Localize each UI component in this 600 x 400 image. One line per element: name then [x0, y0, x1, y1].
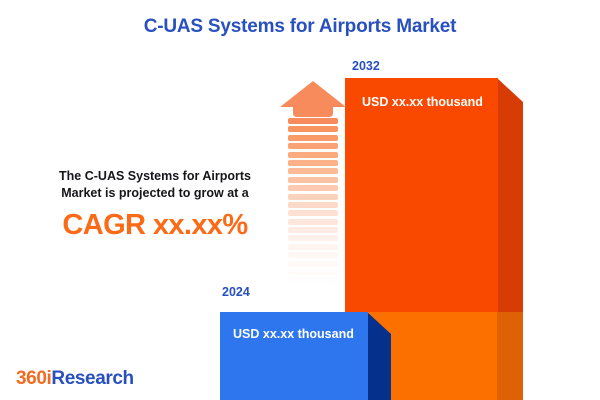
- bar-2024-front-face: [220, 312, 368, 400]
- arrow-stripes: [288, 118, 338, 304]
- bar-2032-side-face-lower: [497, 312, 523, 400]
- page-title: C-UAS Systems for Airports Market: [0, 16, 600, 38]
- statement-line-1: The C-UAS Systems for Airports: [22, 168, 288, 185]
- cagr-value: CAGR xx.xx%: [22, 209, 288, 241]
- bar-value-label-2032: USD xx.xx thousand: [362, 95, 483, 109]
- bar-value-label-2024: USD xx.xx thousand: [233, 327, 354, 341]
- arrow-head-icon: [279, 80, 347, 118]
- statement-block: The C-UAS Systems for Airports Market is…: [22, 168, 288, 241]
- brand-logo: 360iResearch: [16, 368, 134, 390]
- growth-up-arrow-icon: [279, 80, 347, 304]
- year-label-2032: 2032: [352, 59, 380, 73]
- infographic-canvas: C-UAS Systems for Airports Market: [0, 0, 600, 400]
- logo-part-research: Research: [51, 368, 133, 389]
- statement-line-2: Market is projected to grow at a: [22, 185, 288, 202]
- year-label-2024: 2024: [222, 285, 250, 299]
- logo-part-360: 360: [16, 368, 47, 389]
